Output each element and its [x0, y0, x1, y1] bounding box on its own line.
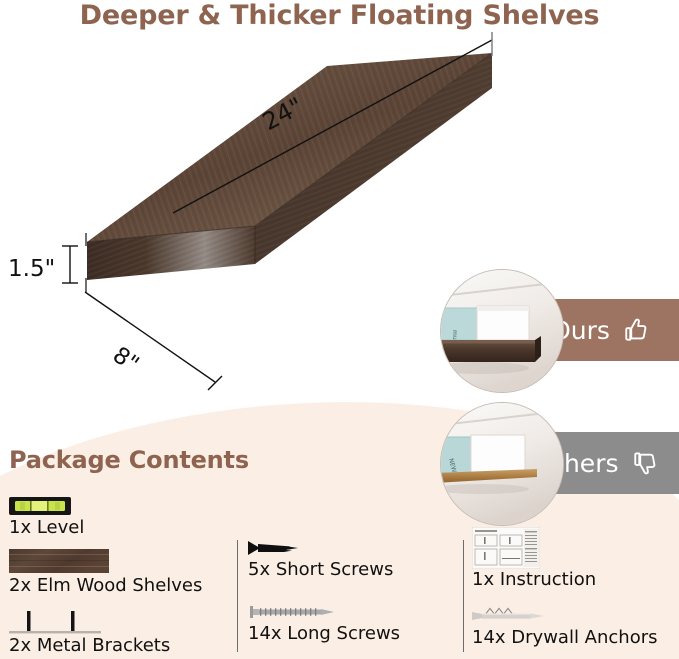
package-item-label: 5x Short Screws [248, 559, 458, 581]
package-item-label: 2x Metal Brackets [9, 635, 234, 657]
column-divider-2 [463, 540, 464, 652]
package-column-2: 5x Short Screws [248, 533, 458, 645]
package-item-shelves: 2x Elm Wood Shelves [9, 545, 234, 597]
comparison-others[interactable]: Others [440, 432, 679, 494]
metal-bracket-icon [9, 605, 234, 635]
package-item-label: 14x Long Screws [248, 623, 458, 645]
package-column-1: 1x Level [9, 485, 234, 657]
thumbs-up-icon [620, 315, 650, 345]
package-item-level: 1x Level [9, 485, 234, 539]
long-screw-icon [248, 595, 458, 623]
column-divider-1 [237, 540, 238, 652]
level-tool-icon [9, 485, 234, 517]
package-item-instruction: 1x Instruction [472, 525, 677, 591]
wood-shelf-icon [9, 545, 234, 575]
instruction-sheet-icon [472, 525, 677, 569]
package-item-brackets: 2x Metal Brackets [9, 605, 234, 657]
dimension-label-thickness: 1.5" [8, 256, 55, 282]
svg-text:mu: mu [451, 330, 458, 340]
package-item-label: 14x Drywall Anchors [472, 627, 677, 649]
package-item-label: 1x Instruction [472, 569, 677, 591]
others-photo: NEW [440, 402, 564, 526]
product-infographic: Deeper & Thicker Floating Shelves [0, 0, 679, 659]
package-item-short-screws: 5x Short Screws [248, 533, 458, 581]
package-item-label: 1x Level [9, 517, 234, 539]
package-item-long-screws: 14x Long Screws [248, 595, 458, 645]
thumbs-down-icon [629, 448, 659, 478]
comparison-ours[interactable]: Ours [440, 299, 679, 361]
package-column-3: 1x Instruction 14x Drywall Anchors [472, 525, 677, 649]
page-title: Deeper & Thicker Floating Shelves [0, 0, 679, 31]
short-screw-icon [248, 533, 458, 559]
package-contents-heading: Package Contents [9, 446, 249, 474]
package-item-label: 2x Elm Wood Shelves [9, 575, 234, 597]
package-item-drywall-anchors: 14x Drywall Anchors [472, 601, 677, 649]
drywall-anchor-icon [472, 601, 677, 627]
ours-photo: mu [440, 269, 564, 393]
